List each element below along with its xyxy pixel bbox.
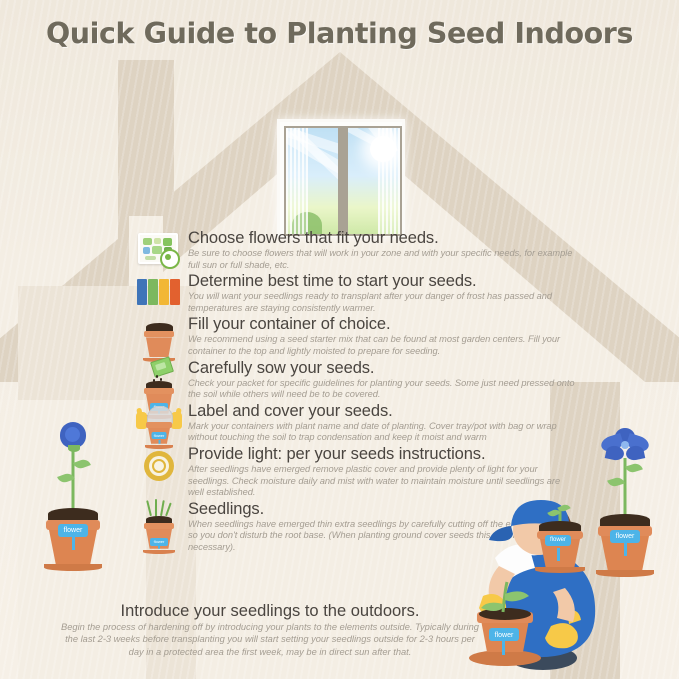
gloves-covered-pot-icon: flower: [136, 402, 182, 448]
step-item: flower Carefully sow your seeds. Check y…: [136, 359, 576, 401]
step-heading: Label and cover your seeds.: [188, 402, 576, 421]
outro-heading: Introduce your seedlings to the outdoors…: [60, 602, 480, 621]
step-item: flower Label and cover your seeds. Mark …: [136, 402, 576, 444]
step-heading: Provide light: per your seeds instructio…: [188, 445, 576, 464]
seed-packet-pot-icon: flower: [136, 359, 182, 405]
pot-tag: flower: [152, 432, 167, 439]
step-item: Provide light: per your seeds instructio…: [136, 445, 576, 499]
step-heading: Carefully sow your seeds.: [188, 359, 576, 378]
step-body: Be sure to choose flowers that will work…: [188, 248, 576, 271]
left-flower-pot: flower: [38, 418, 108, 571]
svg-text:flower: flower: [495, 632, 514, 639]
outro-body: Begin the process of hardening off by in…: [60, 621, 480, 658]
window-illustration: [277, 119, 405, 237]
seed-packet-icon: [150, 356, 174, 377]
sprouting-pot-icon: flower: [136, 500, 182, 546]
step-heading: Determine best time to start your seeds.: [188, 272, 576, 291]
page-title: Quick Guide to Planting Seed Indoors: [0, 17, 679, 50]
step-body: Check your packet for specific guideline…: [188, 378, 576, 401]
background-pot-tag: flower: [545, 535, 571, 546]
sun-ring-icon: [136, 445, 182, 491]
window-mullion: [340, 126, 348, 236]
step-body: You will want your seedlings ready to tr…: [188, 291, 576, 314]
filled-pot-icon: [136, 315, 182, 361]
step-item: Determine best time to start your seeds.…: [136, 272, 576, 314]
background-pot: flower: [537, 521, 583, 567]
lily-flower-icon: [601, 428, 649, 462]
approved-badge-icon: [160, 249, 180, 269]
infographic-canvas: Quick Guide to Planting Seed Indoors flo…: [0, 0, 679, 679]
step-body: Mark your containers with plant name and…: [188, 421, 576, 444]
step-heading: Fill your container of choice.: [188, 315, 576, 334]
pot-tag: flower: [150, 538, 168, 546]
window-pane-right: [346, 126, 402, 236]
step-item: Choose flowers that fit your needs. Be s…: [136, 229, 576, 271]
seed-catalog-icon: [136, 229, 182, 275]
outro-section: Introduce your seedlings to the outdoors…: [60, 602, 480, 658]
step-body: We recommend using a seed starter mix th…: [188, 334, 576, 357]
step-heading: Choose flowers that fit your needs.: [188, 229, 576, 248]
left-pot: flower: [46, 508, 100, 564]
left-pot-tag: flower: [58, 524, 88, 537]
four-seasons-icon: [136, 272, 182, 318]
step-body: After seedlings have emerged remove plas…: [188, 464, 576, 499]
gardener-background-pot: flower: [530, 505, 590, 573]
step-item: Fill your container of choice. We recomm…: [136, 315, 576, 357]
window-blind-right: [378, 128, 400, 234]
window-blind-left: [286, 128, 308, 234]
window-pane-left: [284, 126, 340, 236]
